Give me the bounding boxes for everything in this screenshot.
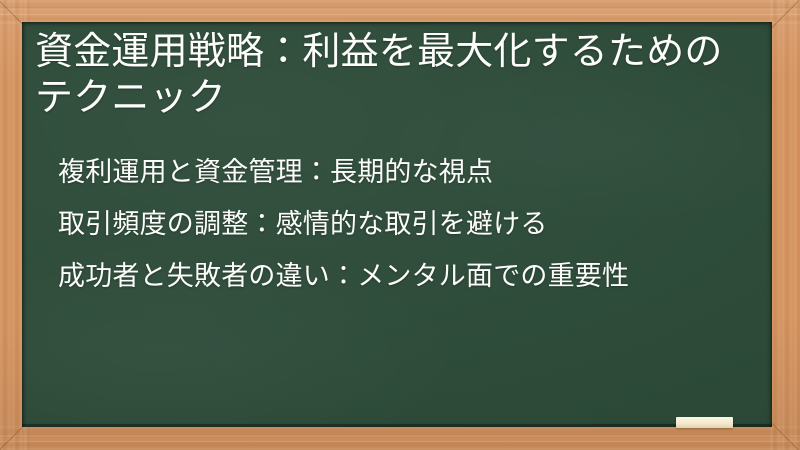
bullet-item-2: 取引頻度の調整：感情的な取引を避ける (58, 199, 758, 251)
frame-grain-right (770, 0, 800, 450)
slide-title: 資金運用戦略：利益を最大化するためのテクニック (35, 28, 751, 120)
board-bottom-lip (22, 424, 772, 427)
frame-streaks-top (0, 0, 800, 22)
slide-bullet-list: 複利運用と資金管理：長期的な視点 取引頻度の調整：感情的な取引を避ける 成功者と… (58, 147, 758, 303)
frame-streaks-bottom (0, 427, 800, 450)
chalk-stick-icon (676, 417, 733, 428)
bullet-item-3: 成功者と失敗者の違い：メンタル面での重要性 (58, 251, 758, 303)
bullet-item-1: 複利運用と資金管理：長期的な視点 (58, 147, 758, 199)
chalkboard-surface: 資金運用戦略：利益を最大化するためのテクニック 複利運用と資金管理：長期的な視点… (22, 22, 772, 427)
chalkboard-slide: 資金運用戦略：利益を最大化するためのテクニック 複利運用と資金管理：長期的な視点… (0, 0, 800, 450)
